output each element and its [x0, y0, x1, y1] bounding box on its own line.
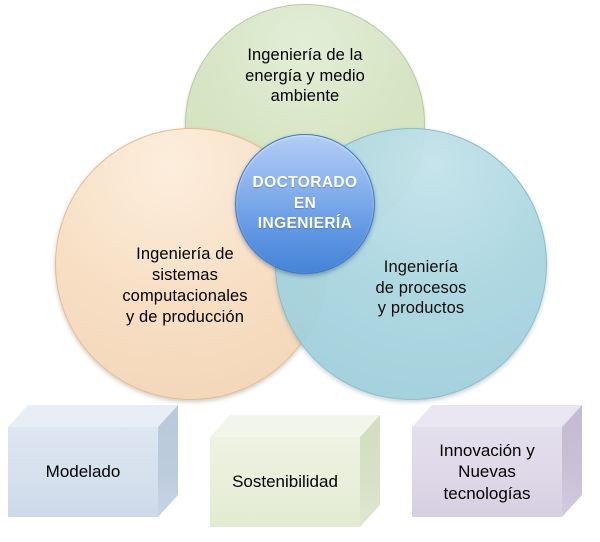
venn-center-label: DOCTORADO EN INGENIERÍA: [253, 173, 358, 236]
venn-center-doctorado-en-ingenieria: DOCTORADO EN INGENIERÍA: [235, 134, 375, 274]
cube-top-face-modelado: [8, 405, 178, 427]
cube-front-face-sostenibilidad: Sostenibilidad: [210, 437, 360, 527]
venn-circle-label-procesos: Ingeniería de procesos y productos: [376, 257, 467, 319]
cube-innovacion-nuevas-tecnologias: Innovación y Nuevas tecnologías: [412, 405, 582, 517]
cube-top-face-innovacion: [412, 405, 582, 427]
venn-diagram: Ingeniería de la energía y medio ambient…: [0, 0, 600, 542]
cube-top-face-sostenibilidad: [210, 415, 380, 437]
cube-modelado: Modelado: [8, 405, 178, 517]
venn-circle-label-sistemas: Ingeniería de sistemas computacionales y…: [122, 244, 247, 327]
cube-front-face-modelado: Modelado: [8, 427, 158, 517]
venn-circle-label-energia: Ingeniería de la energía y medio ambient…: [245, 45, 365, 107]
cube-front-face-innovacion: Innovación y Nuevas tecnologías: [412, 427, 562, 517]
cube-label-sostenibilidad: Sostenibilidad: [232, 471, 338, 492]
cube-label-innovacion: Innovación y Nuevas tecnologías: [439, 440, 534, 504]
cube-label-modelado: Modelado: [46, 461, 121, 482]
cube-sostenibilidad: Sostenibilidad: [210, 415, 380, 527]
